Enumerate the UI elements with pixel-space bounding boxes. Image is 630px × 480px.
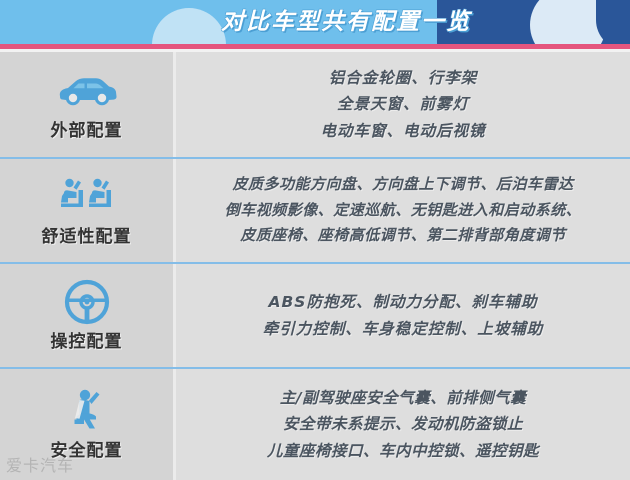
feature-line: 铝合金轮圈、行李架 [329,65,478,92]
features-cell: ABS防抱死、制动力分配、刹车辅助 牵引力控制、车身稳定控制、上坡辅助 [176,264,630,367]
category-cell-safety: 安全配置 [0,369,176,480]
header-white-rule [0,49,630,52]
seatbelt-person-icon [55,388,119,434]
features-table: 外部配置 铝合金轮圈、行李架 全景天窗、前雾灯 电动车窗、电动后视镜 [0,52,630,480]
steering-wheel-icon [55,279,119,325]
feature-line: 主/副驾驶座安全气囊、前排侧气囊 [280,385,526,412]
feature-line: 皮质座椅、座椅高低调节、第二排背部角度调节 [240,223,566,249]
infographic-page: 对比车型共有配置一览 外部配置 [0,0,630,480]
header-banner: 对比车型共有配置一览 [0,0,630,44]
feature-line: 皮质多功能方向盘、方向盘上下调节、后泊车雷达 [232,172,573,198]
category-label: 外部配置 [51,116,123,141]
feature-line: 电动车窗、电动后视镜 [320,118,485,145]
feature-line: 牵引力控制、车身稳定控制、上坡辅助 [263,316,544,343]
category-cell-comfort: 舒适性配置 [0,159,176,262]
table-row: 舒适性配置 皮质多功能方向盘、方向盘上下调节、后泊车雷达 倒车视频影像、定速巡航… [0,159,630,264]
category-label: 安全配置 [51,436,123,461]
feature-line: 全景天窗、前雾灯 [337,91,469,118]
feature-line: ABS防抱死、制动力分配、刹车辅助 [269,289,538,316]
features-cell: 铝合金轮圈、行李架 全景天窗、前雾灯 电动车窗、电动后视镜 [176,52,630,157]
table-row: 外部配置 铝合金轮圈、行李架 全景天窗、前雾灯 电动车窗、电动后视镜 [0,52,630,159]
category-cell-exterior: 外部配置 [0,52,176,157]
feature-line: 安全带未系提示、发动机防盗锁止 [283,411,523,438]
two-seats-icon [55,174,119,220]
car-side-icon [55,68,119,114]
features-cell: 主/副驾驶座安全气囊、前排侧气囊 安全带未系提示、发动机防盗锁止 儿童座椅接口、… [176,369,630,480]
table-row: 操控配置 ABS防抱死、制动力分配、刹车辅助 牵引力控制、车身稳定控制、上坡辅助 [0,264,630,369]
page-title: 对比车型共有配置一览 [0,0,630,44]
table-row: 安全配置 主/副驾驶座安全气囊、前排侧气囊 安全带未系提示、发动机防盗锁止 儿童… [0,369,630,480]
feature-line: 倒车视频影像、定速巡航、无钥匙进入和启动系统、 [225,198,582,224]
category-cell-handling: 操控配置 [0,264,176,367]
category-label: 舒适性配置 [42,222,132,247]
feature-line: 儿童座椅接口、车内中控锁、遥控钥匙 [267,438,539,465]
category-label: 操控配置 [51,327,123,352]
features-cell: 皮质多功能方向盘、方向盘上下调节、后泊车雷达 倒车视频影像、定速巡航、无钥匙进入… [176,159,630,262]
